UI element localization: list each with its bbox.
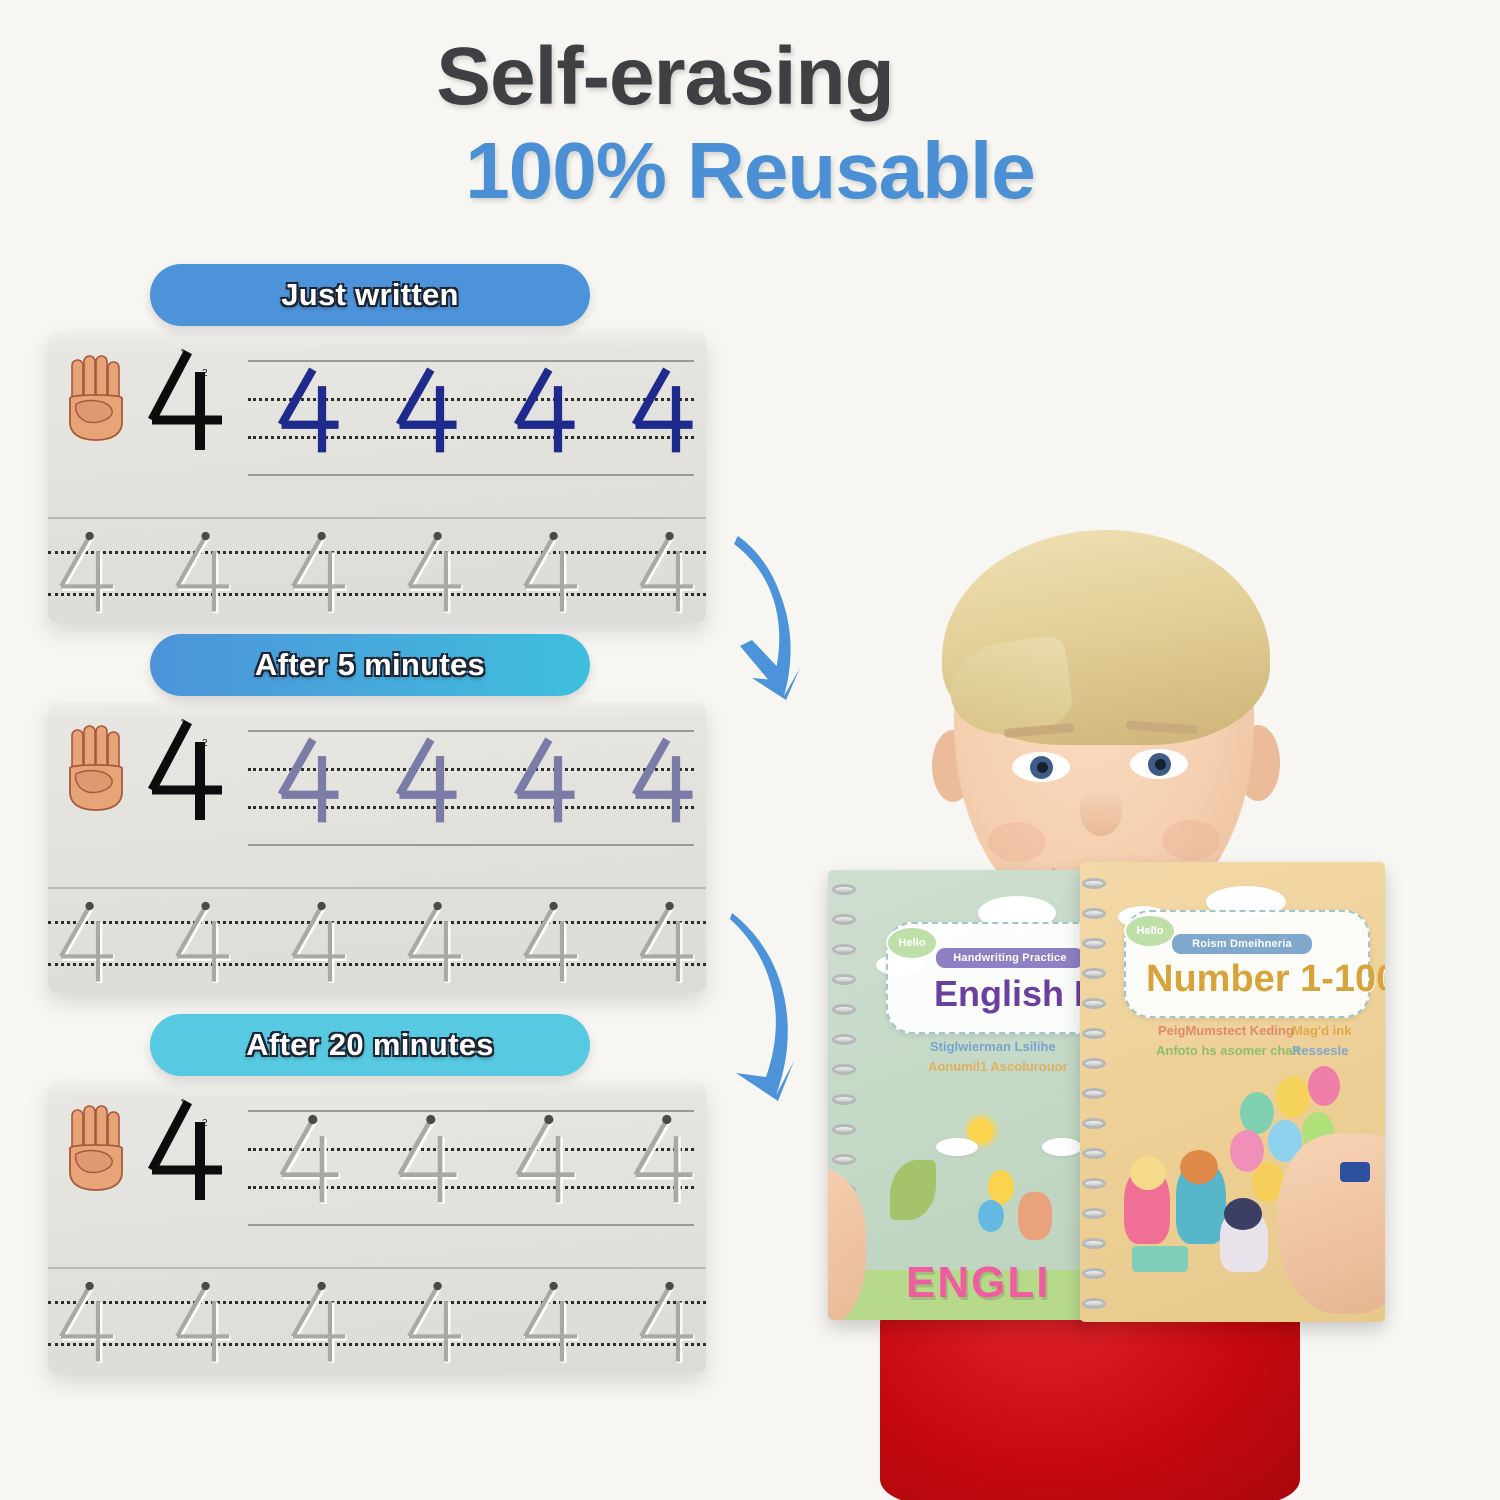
practice-glyph: [394, 734, 460, 831]
model-digit-four: 12: [144, 346, 234, 458]
practice-glyph: [276, 1114, 342, 1211]
embossed-digit-four: [520, 1281, 580, 1365]
practice-sheet-3: 12: [48, 1082, 706, 1372]
model-digit: 12: [144, 716, 234, 828]
practice-glyph: [630, 364, 696, 461]
embossed-digit-four: [56, 531, 116, 615]
sheet-bottom-section: [48, 517, 706, 622]
embossed-digit-four: [56, 1281, 116, 1365]
svg-text:2: 2: [202, 738, 208, 749]
top-practice-row: [276, 734, 696, 831]
cloud-icon: [936, 1138, 978, 1156]
balloon-icon: [988, 1170, 1014, 1204]
number-ribbon: Roism Dmeihneria: [1172, 934, 1312, 954]
embossed-digit-four: [404, 531, 464, 615]
svg-text:1: 1: [180, 1098, 186, 1109]
stage-badge-just-written: Just written: [150, 264, 590, 326]
traced-glyph: [56, 531, 116, 620]
stage-badge-after-5-minutes: After 5 minutes: [150, 634, 590, 696]
boy-nose: [1080, 788, 1122, 836]
model-digit-four: 12: [144, 1096, 234, 1208]
practice-glyph: [630, 1114, 696, 1211]
boy-hand-right: [1278, 1134, 1385, 1314]
boy-cheek-right: [1162, 820, 1220, 860]
embossed-digit-four: [636, 531, 696, 615]
traced-glyph: [520, 531, 580, 620]
hand-four-fingers-icon: [66, 1104, 128, 1194]
embossed-digit-four: [520, 901, 580, 985]
written-digit-four: [276, 364, 342, 456]
sheet-bottom-section: [48, 1267, 706, 1372]
practice-glyph: [276, 364, 342, 461]
hand-four-fingers-icon: [66, 1104, 128, 1194]
traced-glyph: [172, 901, 232, 990]
embossed-digit-four: [172, 531, 232, 615]
traced-glyph: [520, 1281, 580, 1370]
traced-glyph: [288, 901, 348, 990]
number-subtitle-1: PeigMumstect Keding: [1158, 1022, 1294, 1040]
traced-glyph: [288, 1281, 348, 1370]
practice-glyph: [512, 1114, 578, 1211]
stage-badge-1-wrap: Just written: [150, 264, 590, 326]
embossed-digit-four: [630, 1114, 696, 1206]
sheet-top-section: 12: [48, 332, 706, 517]
written-digit-four: [512, 734, 578, 826]
stage-badge-2-wrap: After 5 minutes: [150, 634, 590, 696]
child-hair-icon: [1180, 1150, 1218, 1184]
written-digit-four: [630, 734, 696, 826]
ring-accessory: [1340, 1162, 1370, 1182]
traced-glyph: [636, 1281, 696, 1370]
boy-eye-right: [1130, 749, 1188, 779]
hand-four-fingers-icon: [66, 354, 128, 444]
stage-badge-3-wrap: After 20 minutes: [150, 1014, 590, 1076]
bottom-traced-row: [56, 1281, 696, 1370]
child-hair-icon: [1130, 1156, 1166, 1190]
embossed-digit-four: [172, 1281, 232, 1365]
sheet-bottom-section: [48, 887, 706, 992]
traced-glyph: [172, 1281, 232, 1370]
practice-glyph: [512, 734, 578, 831]
practice-sheet: 12: [48, 1082, 706, 1372]
svg-text:1: 1: [180, 348, 186, 359]
number-hello-badge: Hello: [1124, 914, 1176, 948]
embossed-digit-four: [404, 901, 464, 985]
practice-glyph: [394, 364, 460, 461]
practice-sheet: 12: [48, 702, 706, 992]
practice-glyph: [630, 734, 696, 831]
balloon-icon: [978, 1200, 1004, 1232]
traced-glyph: [404, 531, 464, 620]
traced-glyph: [404, 901, 464, 990]
child-figure-icon: [1018, 1192, 1052, 1240]
sheet-top-section: 12: [48, 702, 706, 887]
bottom-traced-row: [56, 901, 696, 990]
headline-primary: Self-erasing: [0, 34, 1330, 120]
practice-sheet-2: 12: [48, 702, 706, 992]
english-subtitle-2: Aonumil1 Ascolurouor: [928, 1058, 1068, 1076]
number-balloon-icon: [1276, 1076, 1310, 1118]
written-digit-four: [394, 364, 460, 456]
written-digit-four: [630, 364, 696, 456]
traced-glyph: [404, 1281, 464, 1370]
cloud-icon: [1042, 1138, 1082, 1156]
english-book-title: English Le: [934, 973, 1093, 1015]
number-workbook[interactable]: Hello Roism Dmeihneria Number 1-100 Peig…: [1080, 862, 1385, 1322]
stage-badge-after-20-minutes: After 20 minutes: [150, 1014, 590, 1076]
traced-glyph: [288, 531, 348, 620]
boy-eye-left: [1012, 752, 1070, 782]
embossed-digit-four: [404, 1281, 464, 1365]
headline-secondary: 100% Reusable: [0, 126, 1330, 216]
number-subtitle-2: Anfoto hs asomer chan: [1156, 1042, 1300, 1060]
embossed-digit-four: [512, 1114, 578, 1206]
practice-glyph: [394, 1114, 460, 1211]
traced-glyph: [172, 531, 232, 620]
book-stack-icon: [1132, 1246, 1188, 1272]
traced-glyph: [520, 901, 580, 990]
traced-glyph: [636, 531, 696, 620]
svg-text:2: 2: [202, 368, 208, 379]
model-digit: 12: [144, 346, 234, 458]
number-book-title: Number 1-100: [1146, 958, 1385, 1001]
product-photo: Hello Handwriting Practice English Le St…: [740, 470, 1500, 1500]
hand-four-fingers-icon: [66, 724, 128, 814]
number-balloon-icon: [1240, 1092, 1274, 1134]
written-digit-four: [512, 364, 578, 456]
svg-text:2: 2: [202, 1118, 208, 1129]
model-digit-four: 12: [144, 716, 234, 828]
top-practice-row: [276, 364, 696, 461]
embossed-digit-four: [288, 901, 348, 985]
number-balloon-icon: [1308, 1066, 1340, 1106]
english-hello-badge: Hello: [886, 926, 938, 960]
written-digit-four: [276, 734, 342, 826]
embossed-digit-four: [520, 531, 580, 615]
number-subtitle-right-2: Ressesle: [1292, 1042, 1348, 1060]
child-hair-icon: [1224, 1198, 1262, 1230]
english-workbook[interactable]: Hello Handwriting Practice English Le St…: [828, 870, 1093, 1320]
top-practice-row: [276, 1114, 696, 1211]
hand-four-fingers-icon: [66, 354, 128, 444]
embossed-digit-four: [288, 531, 348, 615]
traced-glyph: [56, 1281, 116, 1370]
english-ribbon: Handwriting Practice: [936, 948, 1084, 968]
number-workbook-spiral: [1082, 862, 1108, 1322]
model-digit: 12: [144, 1096, 234, 1208]
practice-glyph: [512, 364, 578, 461]
headline-block: Self-erasing 100% Reusable: [0, 34, 1330, 216]
practice-glyph: [276, 734, 342, 831]
number-subtitle-right-1: Mag'd ink: [1292, 1022, 1351, 1040]
sheet-top-section: 12: [48, 1082, 706, 1267]
embossed-digit-four: [276, 1114, 342, 1206]
hand-four-fingers-icon: [66, 724, 128, 814]
practice-sheet-1: 12: [48, 332, 706, 622]
embossed-digit-four: [394, 1114, 460, 1206]
traced-glyph: [56, 901, 116, 990]
svg-text:1: 1: [180, 718, 186, 729]
product-marketing-image: Self-erasing 100% Reusable Just written …: [0, 0, 1500, 1500]
plant-icon: [890, 1160, 936, 1220]
embossed-digit-four: [56, 901, 116, 985]
practice-sheet: 12: [48, 332, 706, 622]
english-subtitle-1: Stiglwierman Lsilihe: [930, 1038, 1056, 1056]
boy-cheek-left: [988, 822, 1046, 862]
embossed-digit-four: [636, 1281, 696, 1365]
embossed-digit-four: [288, 1281, 348, 1365]
english-big-letters: ENGLI: [906, 1258, 1050, 1308]
embossed-digit-four: [172, 901, 232, 985]
written-digit-four: [394, 734, 460, 826]
bottom-traced-row: [56, 531, 696, 620]
